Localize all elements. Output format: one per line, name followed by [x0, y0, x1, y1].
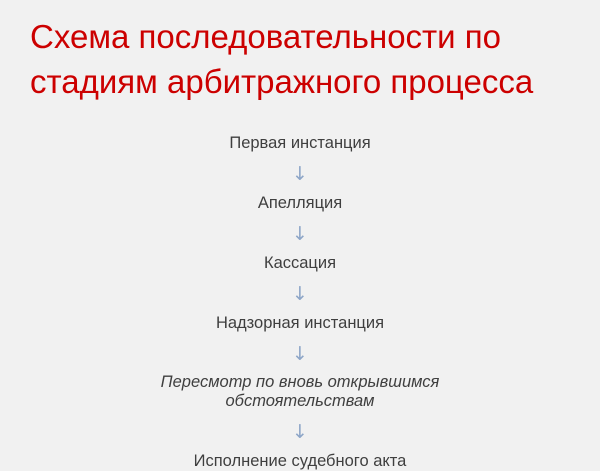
down-arrow-icon: ↓: [292, 421, 308, 443]
down-arrow-icon: ↓: [292, 343, 308, 365]
flow-step-appeal: Апелляция: [258, 193, 342, 213]
down-arrow-icon: ↓: [292, 163, 308, 185]
down-arrow-icon: ↓: [292, 283, 308, 305]
process-flow-diagram: Первая инстанция ↓ Апелляция ↓ Кассация …: [0, 133, 600, 471]
slide-canvas: Схема последовательности по стадиям арби…: [0, 0, 600, 423]
flow-step-supervisory-instance: Надзорная инстанция: [216, 313, 384, 333]
flow-step-cassation: Кассация: [264, 253, 336, 273]
flow-step-first-instance: Первая инстанция: [229, 133, 370, 153]
flow-step-enforcement-of-judicial-act: Исполнение судебного акта: [194, 451, 407, 471]
flow-step-review-new-circumstances: Пересмотр по вновь открывшимся обстоятел…: [161, 373, 440, 411]
down-arrow-icon: ↓: [292, 223, 308, 245]
page-title: Схема последовательности по стадиям арби…: [30, 14, 570, 104]
